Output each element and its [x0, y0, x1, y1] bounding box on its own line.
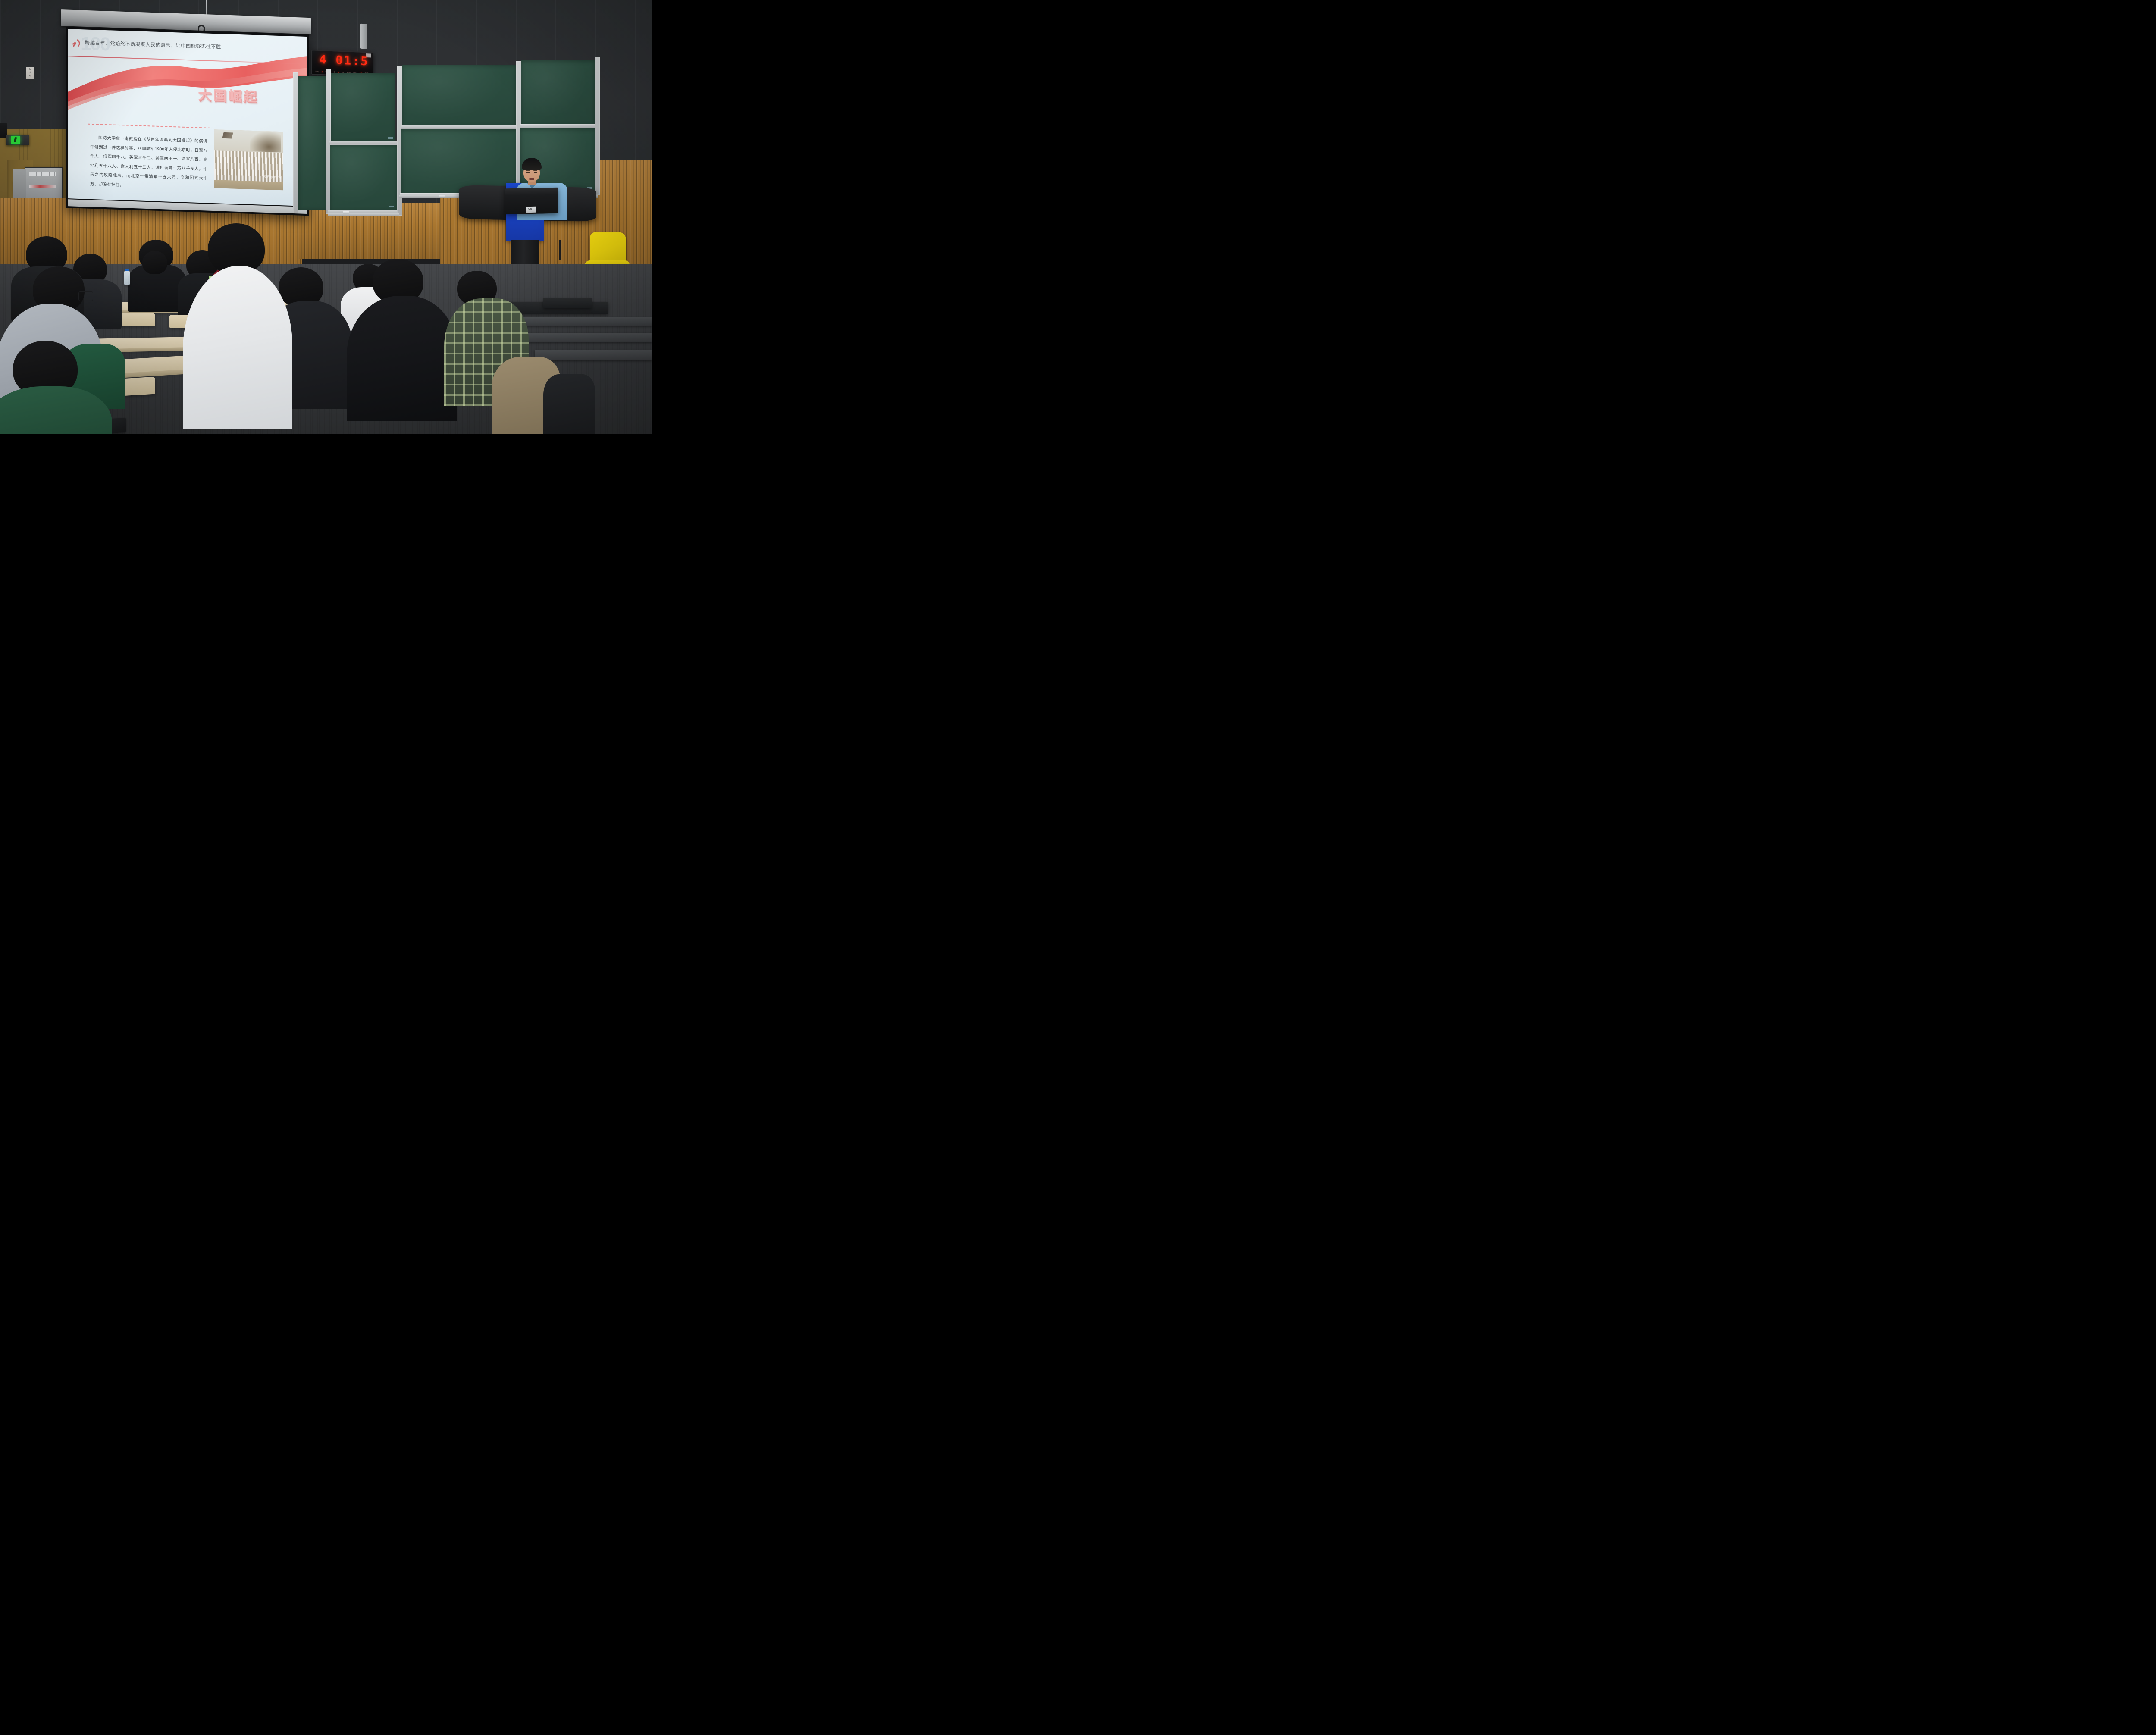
torso-white-hoodie: [183, 266, 292, 429]
torso-black-hoodie: [347, 296, 457, 421]
bb-frame-h5: [520, 124, 596, 128]
bb-tag-1: [388, 137, 393, 139]
bb-panel-lower-right: [401, 129, 517, 194]
wall-notice-line3: 不: [26, 75, 34, 78]
bb-frame-v1: [293, 72, 298, 213]
presenter-eye-right: [534, 172, 537, 173]
aisle-step-2: [513, 333, 652, 342]
head: [142, 251, 167, 274]
wall-notice-line2: 人: [26, 72, 34, 75]
panel-label-strip: [29, 185, 56, 188]
water-bottle-1[interactable]: [124, 271, 130, 285]
lecture-hall-photo: 正在考试 请勿打扰 保 人 不: [0, 0, 652, 434]
wall-notice-small: 保 人 不: [26, 67, 34, 79]
circuit-breakers[interactable]: [29, 172, 56, 176]
photo-flag: [222, 132, 233, 139]
bb-frame-v5: [595, 57, 600, 195]
presenter-mouth: [529, 178, 534, 180]
wall-notice-line1: 保: [26, 68, 34, 72]
slide-title: 大国崛起: [198, 84, 258, 106]
projected-slide: 100 跨越百年，党始终不断凝聚人民的意志，让中国能够无往不胜 大国崛起 国防大…: [68, 29, 307, 206]
presenter-eye-left: [526, 172, 530, 173]
electrical-panel-box[interactable]: [25, 167, 63, 201]
dell-monitor[interactable]: DELL: [505, 188, 558, 215]
chalk-tray-left: [328, 213, 399, 216]
bb-panel-far-left: [298, 76, 327, 210]
aisle-step-3: [535, 350, 652, 360]
photo-smoke-plume: [250, 132, 281, 152]
bb-frame-h3: [401, 125, 518, 129]
projection-screen: 100 跨越百年，党始终不断凝聚人民的意志，让中国能够无往不胜 大国崛起 国防大…: [66, 27, 309, 216]
bb-tag-2: [389, 206, 394, 207]
bb-panel-far-upper-right: [521, 60, 595, 125]
chair-post: [559, 240, 561, 260]
runner-glyph: [14, 137, 17, 142]
clock-label-gregorian: 公历: [315, 71, 319, 73]
screen-mount-bracket: [360, 24, 367, 49]
bb-panel-upper-right: [402, 65, 516, 126]
eyeglasses: [78, 291, 93, 301]
presenter-brow-left: [526, 170, 530, 171]
emergency-exit-sign: [6, 135, 29, 145]
backpack: [543, 374, 595, 434]
bottle-cap: [125, 269, 129, 271]
bb-panel-lower-left: [330, 145, 397, 210]
presenter-brow-right: [533, 170, 537, 171]
stage-platform-step: [543, 298, 592, 308]
bb-frame-h1: [329, 141, 398, 145]
clock-time-display: 4 01:5: [319, 53, 369, 68]
bb-panel-upper-left: [331, 73, 395, 141]
dell-logo: DELL: [526, 207, 536, 213]
blackboard-eraser-1[interactable]: [343, 211, 349, 214]
blackboard-eraser-2[interactable]: [439, 195, 445, 197]
cpc-emblem-icon: [71, 37, 82, 50]
exit-running-man-icon: [11, 136, 20, 144]
panel-door[interactable]: [13, 169, 26, 200]
clock-digit-year: 4: [321, 71, 323, 73]
